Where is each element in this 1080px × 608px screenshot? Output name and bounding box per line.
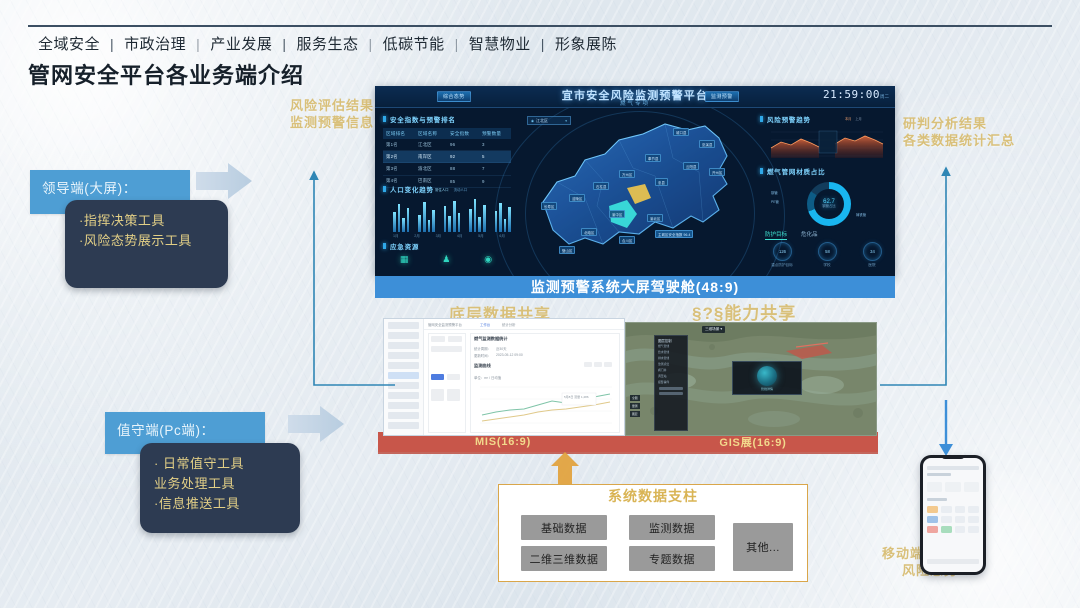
- population-legend: 常住人口 流动人口: [435, 187, 467, 192]
- phone-stat-tile[interactable]: [945, 482, 960, 492]
- mis-tab-workbench[interactable]: 工作台: [480, 322, 490, 327]
- mis-section-heading: 监测曲线: [474, 363, 491, 369]
- bar: [483, 205, 486, 232]
- mobile-phone[interactable]: [920, 455, 986, 575]
- mis-chart-toggle[interactable]: [594, 362, 602, 367]
- bar: [469, 209, 472, 232]
- bar: [474, 199, 477, 232]
- gis-button-measure[interactable]: 量测: [630, 403, 640, 409]
- mis-nav-item-active[interactable]: [388, 372, 419, 379]
- map-label[interactable]: 涪陵区: [569, 194, 585, 202]
- annotation-left-top-line1: 风险评估结果: [290, 97, 374, 114]
- phone-notch: [941, 455, 965, 459]
- annotation-right-top-line1: 研判分析结果: [903, 115, 1015, 132]
- dashboard-clock: 21:59:00周二: [823, 88, 889, 101]
- label-box-duty-text: 值守端(Pc端)：: [117, 419, 215, 439]
- th-index: 安全指数: [447, 128, 479, 139]
- mis-nav-item[interactable]: [388, 362, 419, 369]
- phone-title-line: [927, 473, 951, 476]
- gis-legend-buttons: 全图 量测 图层: [630, 395, 640, 417]
- mis-filter-field[interactable]: [431, 346, 462, 352]
- mis-nav-item[interactable]: [388, 422, 419, 429]
- donut-value: 62.7 钢管占比: [822, 199, 836, 210]
- phone-app-icon[interactable]: [927, 516, 938, 523]
- tools-box-duty: · 日常值守工具 业务处理工具 ·信息推送工具: [140, 443, 300, 533]
- mis-nav-item[interactable]: [388, 332, 419, 339]
- panel-resources-title: 应急资源: [383, 241, 511, 251]
- cell-index: 92: [447, 151, 479, 163]
- mis-reset-button[interactable]: [447, 374, 460, 380]
- arrow-up-data: [551, 452, 579, 484]
- phone-screen[interactable]: [923, 458, 983, 572]
- annotation-left-top-line2: 监测预警信息: [290, 114, 374, 131]
- dashboard-chip-left[interactable]: 综合态势: [437, 91, 471, 102]
- gauge[interactable]: 34: [863, 242, 882, 261]
- panel-pipe-title: 燃气管网材质占比: [760, 166, 888, 176]
- phone-app-icon[interactable]: [968, 506, 979, 513]
- label-box-leader-text: 领导端(大屏)：: [42, 177, 137, 197]
- gis-popup[interactable]: 管线详情: [732, 361, 802, 395]
- clock-time: 21:59:00: [823, 88, 880, 101]
- big-screen-dashboard[interactable]: 宜市安全风险监测预警平台 燃气专项 综合态势 监测预警 21:59:00周二 安…: [375, 86, 895, 276]
- phone-app-icon[interactable]: [941, 526, 952, 533]
- donut-legend-1: 钢管: [771, 190, 778, 195]
- gis-toolbar-tag[interactable]: 三维场景 ▾: [702, 326, 725, 333]
- phone-stats-row: [927, 482, 979, 492]
- panel-trend: 风险预警趋势: [760, 114, 888, 124]
- mis-chart-toggle[interactable]: [604, 362, 612, 367]
- mis-chart-toggle[interactable]: [584, 362, 592, 367]
- gis-button-full[interactable]: 全图: [630, 395, 640, 401]
- nav-separator: |: [455, 36, 459, 52]
- cell-region: 江北区: [415, 139, 447, 151]
- th-rank: 区域排名: [383, 128, 415, 139]
- clock-note: 周二: [880, 95, 889, 100]
- mis-nav-item[interactable]: [388, 352, 419, 359]
- bar: [504, 219, 507, 232]
- globe-icon: [757, 366, 777, 386]
- bar: [407, 208, 410, 232]
- gauge-caption: 重点防护目标: [769, 263, 795, 268]
- map-label[interactable]: 石柱县: [593, 182, 609, 190]
- annotation-right-top: 研判分析结果 各类数据统计汇总: [903, 115, 1015, 149]
- data-box-title: 系统数据支柱: [498, 486, 808, 506]
- tool-item: 业务处理工具: [154, 474, 286, 494]
- bar: [402, 218, 405, 232]
- panel-rank-title: 安全指数与预警排名: [383, 114, 511, 124]
- map-label[interactable]: 璧山区: [559, 246, 575, 254]
- gis-layer-panel[interactable]: 图层控制 燃气管线 给水管线 排水管线 监测点位 阀门井 调压站 报警事件: [654, 335, 688, 431]
- map-label[interactable]: 巫溪县: [699, 140, 715, 148]
- legend-item: 本月: [845, 116, 851, 121]
- cell-index: 96: [447, 139, 479, 151]
- bar: [495, 211, 498, 232]
- nav-separator: |: [368, 36, 372, 52]
- phone-icon-grid: [927, 506, 979, 533]
- map-label[interactable]: 云阳县: [683, 162, 699, 170]
- phone-app-icon[interactable]: [955, 526, 966, 533]
- mis-tile[interactable]: [447, 389, 460, 401]
- chip-2d3d-data[interactable]: 二维三维数据: [521, 546, 607, 571]
- mis-tab-stats[interactable]: 统计分析: [502, 322, 516, 327]
- gauge-caption: 医院: [859, 263, 885, 268]
- tool-item: · 日常值守工具: [154, 454, 286, 474]
- map-label[interactable]: 开州区: [709, 168, 725, 176]
- mis-filter-chip[interactable]: [431, 336, 445, 342]
- bar: [398, 204, 401, 232]
- mis-filter-chip[interactable]: [448, 336, 462, 342]
- x-tick: 4月: [457, 234, 463, 239]
- population-bar-chart: [393, 198, 511, 232]
- legend-item: 常住人口: [435, 187, 449, 192]
- mis-page-heading: 燃气监测数据统计: [474, 336, 508, 342]
- chip-topic-data[interactable]: 专题数据: [629, 546, 715, 571]
- cell-alerts: 5: [479, 151, 511, 163]
- bar: [444, 206, 447, 232]
- donut-legend-3: 铸铁管: [856, 212, 866, 217]
- bar: [418, 215, 421, 232]
- page-title: 管网安全平台各业务端介绍: [28, 58, 304, 90]
- cell-rank: 第3名: [383, 163, 415, 175]
- pipe-donut-chart: 62.7 钢管占比: [807, 182, 851, 226]
- nav-separator: |: [196, 36, 200, 52]
- mis-line-chart: [476, 379, 616, 427]
- tool-item: ·风险态势展示工具: [79, 231, 214, 251]
- phone-app-icon[interactable]: [955, 506, 966, 513]
- mis-meta-label-1: 统计周期：: [474, 346, 491, 351]
- dashboard-subtitle: 燃气专项: [620, 99, 650, 107]
- map-label[interactable]: 渝北区: [647, 214, 663, 222]
- map-label[interactable]: 万州区: [619, 170, 635, 178]
- mis-tile[interactable]: [431, 389, 444, 401]
- mis-screenshot[interactable]: 管网安全监测预警平台 工作台 统计分析 燃气监测数据统计 统计周期： 近30天 …: [383, 318, 625, 436]
- phone-app-icon[interactable]: [968, 516, 979, 523]
- nav-item-xingxiangzhanchen[interactable]: 形象展陈: [545, 33, 627, 54]
- x-tick: 2月: [414, 234, 420, 239]
- gauge-caption: 学校: [814, 263, 840, 268]
- map-label-highlight[interactable]: 渝中区: [609, 210, 625, 218]
- donut-legend-2: PE管: [771, 199, 779, 204]
- bar: [478, 217, 481, 232]
- phone-app-icon[interactable]: [941, 506, 952, 513]
- table-row[interactable]: 第1名 江北区 96 3: [383, 139, 511, 151]
- trend-legend: 本月 上月: [845, 116, 862, 121]
- x-tick: 5月: [478, 234, 484, 239]
- bar: [453, 201, 456, 232]
- map-tooltip: 主城区安全指数 96.4: [655, 230, 693, 238]
- person-icon[interactable]: ♟: [442, 254, 450, 265]
- cell-rank: 第1名: [383, 139, 415, 151]
- map-label[interactable]: 长寿区: [541, 202, 557, 210]
- fat-arrow-leader: [196, 163, 252, 199]
- phone-app-icon[interactable]: [955, 516, 966, 523]
- phone-stat-tile[interactable]: [964, 482, 979, 492]
- mis-nav-item[interactable]: [388, 382, 419, 389]
- panel-rank: 安全指数与预警排名 区域排名 区域名称 安全指数 预警数量 第1名 江北区 96: [383, 114, 511, 188]
- gis-divider: [659, 392, 683, 394]
- cell-alerts: 7: [479, 163, 511, 175]
- tool-item: ·指挥决策工具: [79, 211, 214, 231]
- map-label[interactable]: 忠县: [655, 178, 668, 186]
- vehicle-icon[interactable]: ▦: [400, 254, 409, 265]
- nav-item-fuwushengtai[interactable]: 服务生态: [286, 33, 368, 54]
- dashboard-chip-right[interactable]: 监测预警: [705, 91, 739, 102]
- map-label[interactable]: 合川区: [619, 236, 635, 244]
- tab-protect-target[interactable]: 防护目标: [765, 230, 787, 240]
- mis-nav-item[interactable]: [388, 342, 419, 349]
- panel-trend-title: 风险预警趋势: [760, 114, 888, 124]
- population-x-axis: 1月 2月 3月 4月 5月 6月: [393, 234, 505, 239]
- big-screen-caption: 监测预警系统大屏驾驶舱(48:9): [375, 276, 895, 298]
- mis-sidebar[interactable]: [384, 319, 424, 435]
- chip-other[interactable]: 其他...: [733, 523, 793, 571]
- map-label[interactable]: 城口县: [673, 128, 689, 136]
- phone-stat-tile[interactable]: [927, 482, 942, 492]
- bar: [448, 216, 451, 232]
- cell-rank: 第2名: [383, 151, 415, 163]
- legend-item: 上月: [855, 116, 861, 121]
- table-row[interactable]: 第2名 南岸区 92 5: [383, 151, 511, 163]
- map-shape: [523, 110, 753, 276]
- phone-app-icon[interactable]: [927, 506, 938, 513]
- phone-app-icon[interactable]: [941, 516, 952, 523]
- gis-divider: [659, 387, 683, 389]
- nav-item-chanyefazhan[interactable]: 产业发展: [200, 33, 282, 54]
- phone-tabbar[interactable]: [927, 559, 979, 564]
- dashboard-map[interactable]: 城口县 巫溪县 奉节县 云阳县 开州区 万州区 忠县 石柱县 涪陵区 长寿区 渝…: [523, 110, 753, 276]
- panel-resources: 应急资源: [383, 241, 511, 251]
- gis-screenshot[interactable]: 三维场景 ▾ 图层控制 燃气管线 给水管线 排水管线 监测点位 阀门井 调压站 …: [625, 322, 877, 436]
- fat-arrow-duty: [288, 406, 344, 442]
- phone-statusbar: [927, 466, 979, 470]
- device-icon[interactable]: ◉: [484, 254, 492, 265]
- cell-region: 南岸区: [415, 151, 447, 163]
- nav-item-quanyuanquan[interactable]: 全域安全: [28, 33, 110, 54]
- map-label[interactable]: 北碚区: [581, 228, 597, 236]
- rank-table: 区域排名 区域名称 安全指数 预警数量 第1名 江北区 96 3 第2名: [383, 128, 511, 188]
- th-alerts: 预警数量: [479, 128, 511, 139]
- mis-nav-item[interactable]: [388, 322, 419, 329]
- phone-section-label: [927, 498, 947, 501]
- mis-nav-item[interactable]: [388, 412, 419, 419]
- gis-popup-title: 管线详情: [757, 387, 777, 391]
- phone-app-icon[interactable]: [927, 526, 938, 533]
- table-row[interactable]: 第3名 渝北区 88 7: [383, 163, 511, 175]
- bar: [499, 203, 502, 232]
- x-tick: 1月: [393, 234, 399, 239]
- mis-nav-item[interactable]: [388, 402, 419, 409]
- mis-meta-value-2: 2023-05-12 09:00: [496, 353, 523, 357]
- cell-region: 渝北区: [415, 163, 447, 175]
- tab-hazardous[interactable]: 危化品: [801, 230, 818, 240]
- tools-box-leader: ·指挥决策工具 ·风险态势展示工具: [65, 200, 228, 288]
- chip-basic-data[interactable]: 基础数据: [521, 515, 607, 540]
- mis-chart-tooltip: 5月8日 流量 1,286: [564, 395, 589, 399]
- tool-item: ·信息推送工具: [154, 494, 286, 514]
- annotation-right-top-line2: 各类数据统计汇总: [903, 132, 1015, 149]
- resource-icons: ▦ ♟ ◉: [383, 254, 509, 265]
- nav-item-shizhengzhili[interactable]: 市政治理: [114, 33, 196, 54]
- x-tick: 3月: [436, 234, 442, 239]
- mis-meta-value-1: 近30天: [496, 346, 507, 351]
- cell-alerts: 3: [479, 139, 511, 151]
- bar: [428, 220, 431, 232]
- bar: [508, 207, 511, 232]
- right-tabs: 防护目标 危化品: [765, 230, 818, 240]
- th-region: 区域名称: [415, 128, 447, 139]
- gis-panel-title: 图层控制: [655, 336, 687, 343]
- header-rule: [28, 25, 1052, 27]
- gauge[interactable]: 58: [818, 242, 837, 261]
- chip-monitor-data[interactable]: 监测数据: [629, 515, 715, 540]
- table-header-row: 区域排名 区域名称 安全指数 预警数量: [383, 128, 511, 139]
- map-label[interactable]: 奉节县: [645, 154, 661, 162]
- legend-item: 流动人口: [454, 187, 468, 192]
- background-highlight: [0, 0, 200, 180]
- bar: [423, 202, 426, 232]
- nav-item-didanjieneng[interactable]: 低碳节能: [373, 33, 455, 54]
- mis-nav-item[interactable]: [388, 392, 419, 399]
- top-nav: 全域安全 | 市政治理 | 产业发展 | 服务生态 | 低碳节能 | 智慧物业 …: [28, 33, 1052, 54]
- gauge[interactable]: 126: [773, 242, 792, 261]
- cell-index: 88: [447, 163, 479, 175]
- mis-breadcrumb: 管网安全监测预警平台: [428, 322, 462, 327]
- trend-area-chart: [763, 126, 887, 160]
- nav-item-zhihuiwuye[interactable]: 智慧物业: [459, 33, 541, 54]
- gis-button-layer[interactable]: 图层: [630, 411, 640, 417]
- gis-panel-item[interactable]: 报警事件: [655, 379, 687, 385]
- mis-query-button[interactable]: [431, 374, 444, 380]
- donut-caption: 钢管占比: [822, 205, 836, 209]
- phone-app-icon[interactable]: [968, 526, 979, 533]
- annotation-left-top: 风险评估结果 监测预警信息: [290, 97, 374, 131]
- mis-meta-label-2: 更新时间：: [474, 353, 491, 358]
- x-tick: 6月: [499, 234, 505, 239]
- panel-pipe: 燃气管网材质占比: [760, 166, 888, 176]
- bar: [432, 210, 435, 232]
- bar: [458, 213, 461, 232]
- bar: [393, 212, 396, 232]
